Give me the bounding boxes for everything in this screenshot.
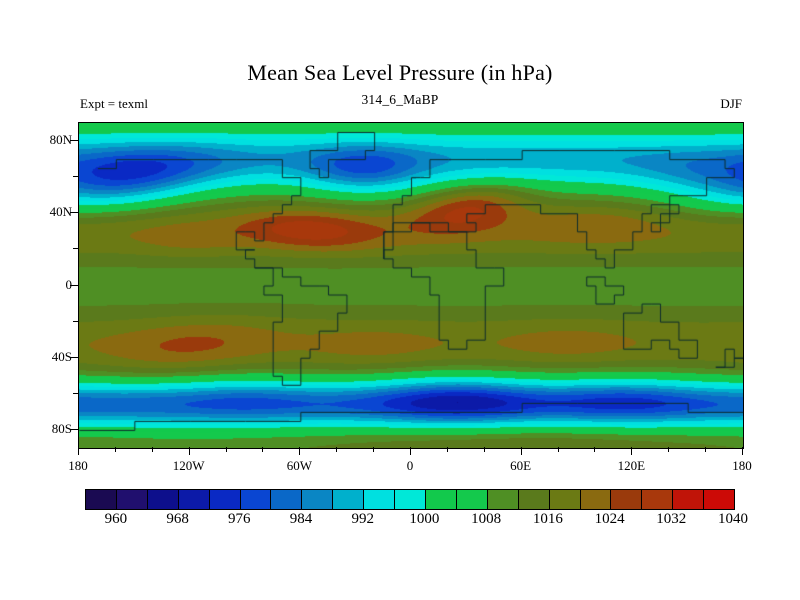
x-axis-tick-minor bbox=[262, 447, 263, 452]
colorbar-swatch bbox=[332, 490, 363, 509]
colorbar-tick-label: 992 bbox=[351, 511, 374, 528]
y-axis-label: 80S bbox=[52, 421, 72, 437]
colorbar-swatch bbox=[86, 490, 116, 509]
y-axis-tick-minor bbox=[73, 248, 78, 249]
x-axis-label: 180 bbox=[68, 458, 88, 474]
colorbar-swatch bbox=[549, 490, 580, 509]
x-axis-tick-minor bbox=[558, 447, 559, 452]
x-axis-tick-minor bbox=[594, 447, 595, 452]
colorbar-swatch bbox=[394, 490, 425, 509]
colorbar-swatch bbox=[363, 490, 394, 509]
map-plot-area bbox=[78, 122, 744, 449]
y-axis-tick-minor bbox=[73, 321, 78, 322]
colorbar-swatch bbox=[301, 490, 332, 509]
colorbar-swatch bbox=[425, 490, 456, 509]
colorbar-tick-label: 960 bbox=[105, 511, 128, 528]
x-axis-label: 120E bbox=[618, 458, 645, 474]
colorbar-swatch bbox=[178, 490, 209, 509]
page-title: Mean Sea Level Pressure (in hPa) bbox=[0, 60, 800, 86]
y-axis-label: 40N bbox=[50, 204, 72, 220]
colorbar-swatches bbox=[86, 490, 734, 509]
season-label: DJF bbox=[720, 96, 742, 112]
colorbar-tick-label: 976 bbox=[228, 511, 251, 528]
x-axis-tick-major bbox=[631, 447, 632, 455]
x-axis-tick-major bbox=[78, 447, 79, 455]
colorbar-tick-label: 1032 bbox=[656, 511, 686, 528]
msl-pressure-figure: Mean Sea Level Pressure (in hPa) 314_6_M… bbox=[0, 0, 800, 600]
x-axis-tick-minor bbox=[226, 447, 227, 452]
y-axis-label: 0 bbox=[66, 277, 73, 293]
colorbar-tick-label: 984 bbox=[290, 511, 313, 528]
y-axis-label: 80N bbox=[50, 132, 72, 148]
x-axis-label: 60E bbox=[510, 458, 531, 474]
x-axis-tick-minor bbox=[705, 447, 706, 452]
colorbar-swatch bbox=[641, 490, 672, 509]
x-axis-tick-major bbox=[189, 447, 190, 455]
y-axis-label: 40S bbox=[52, 349, 72, 365]
colorbar-swatch bbox=[703, 490, 734, 509]
colorbar-swatch bbox=[456, 490, 487, 509]
colorbar-tick-label: 1016 bbox=[533, 511, 563, 528]
colorbar-swatch bbox=[487, 490, 518, 509]
x-axis-label: 180 bbox=[732, 458, 752, 474]
colorbar-tick-label: 1024 bbox=[595, 511, 625, 528]
colorbar-swatch bbox=[610, 490, 641, 509]
x-axis-tick-minor bbox=[447, 447, 448, 452]
colorbar-swatch bbox=[580, 490, 611, 509]
colorbar-tick-label: 1000 bbox=[409, 511, 439, 528]
x-axis-label: 120W bbox=[173, 458, 205, 474]
x-axis-tick-major bbox=[410, 447, 411, 455]
colorbar-tick-label: 1040 bbox=[718, 511, 748, 528]
x-axis-tick-major bbox=[742, 447, 743, 455]
colorbar-swatch bbox=[672, 490, 703, 509]
contour-field-canvas bbox=[79, 123, 743, 448]
x-axis-label: 60W bbox=[287, 458, 312, 474]
colorbar-swatch bbox=[147, 490, 178, 509]
x-axis-tick-minor bbox=[115, 447, 116, 452]
colorbar-swatch bbox=[116, 490, 147, 509]
colorbar-swatch bbox=[518, 490, 549, 509]
x-axis-tick-minor bbox=[668, 447, 669, 452]
colorbar-tick-label: 968 bbox=[166, 511, 189, 528]
experiment-label: Expt = texml bbox=[80, 96, 148, 112]
x-axis-tick-major bbox=[521, 447, 522, 455]
x-axis-tick-minor bbox=[373, 447, 374, 452]
colorbar bbox=[85, 489, 735, 510]
colorbar-swatch bbox=[270, 490, 301, 509]
colorbar-swatch bbox=[209, 490, 240, 509]
x-axis-tick-major bbox=[299, 447, 300, 455]
x-axis-label: 0 bbox=[407, 458, 414, 474]
x-axis-tick-minor bbox=[152, 447, 153, 452]
y-axis-tick-minor bbox=[73, 393, 78, 394]
colorbar-tick-label: 1008 bbox=[471, 511, 501, 528]
x-axis-tick-minor bbox=[484, 447, 485, 452]
x-axis-tick-minor bbox=[336, 447, 337, 452]
y-axis-tick-minor bbox=[73, 176, 78, 177]
colorbar-swatch bbox=[240, 490, 271, 509]
